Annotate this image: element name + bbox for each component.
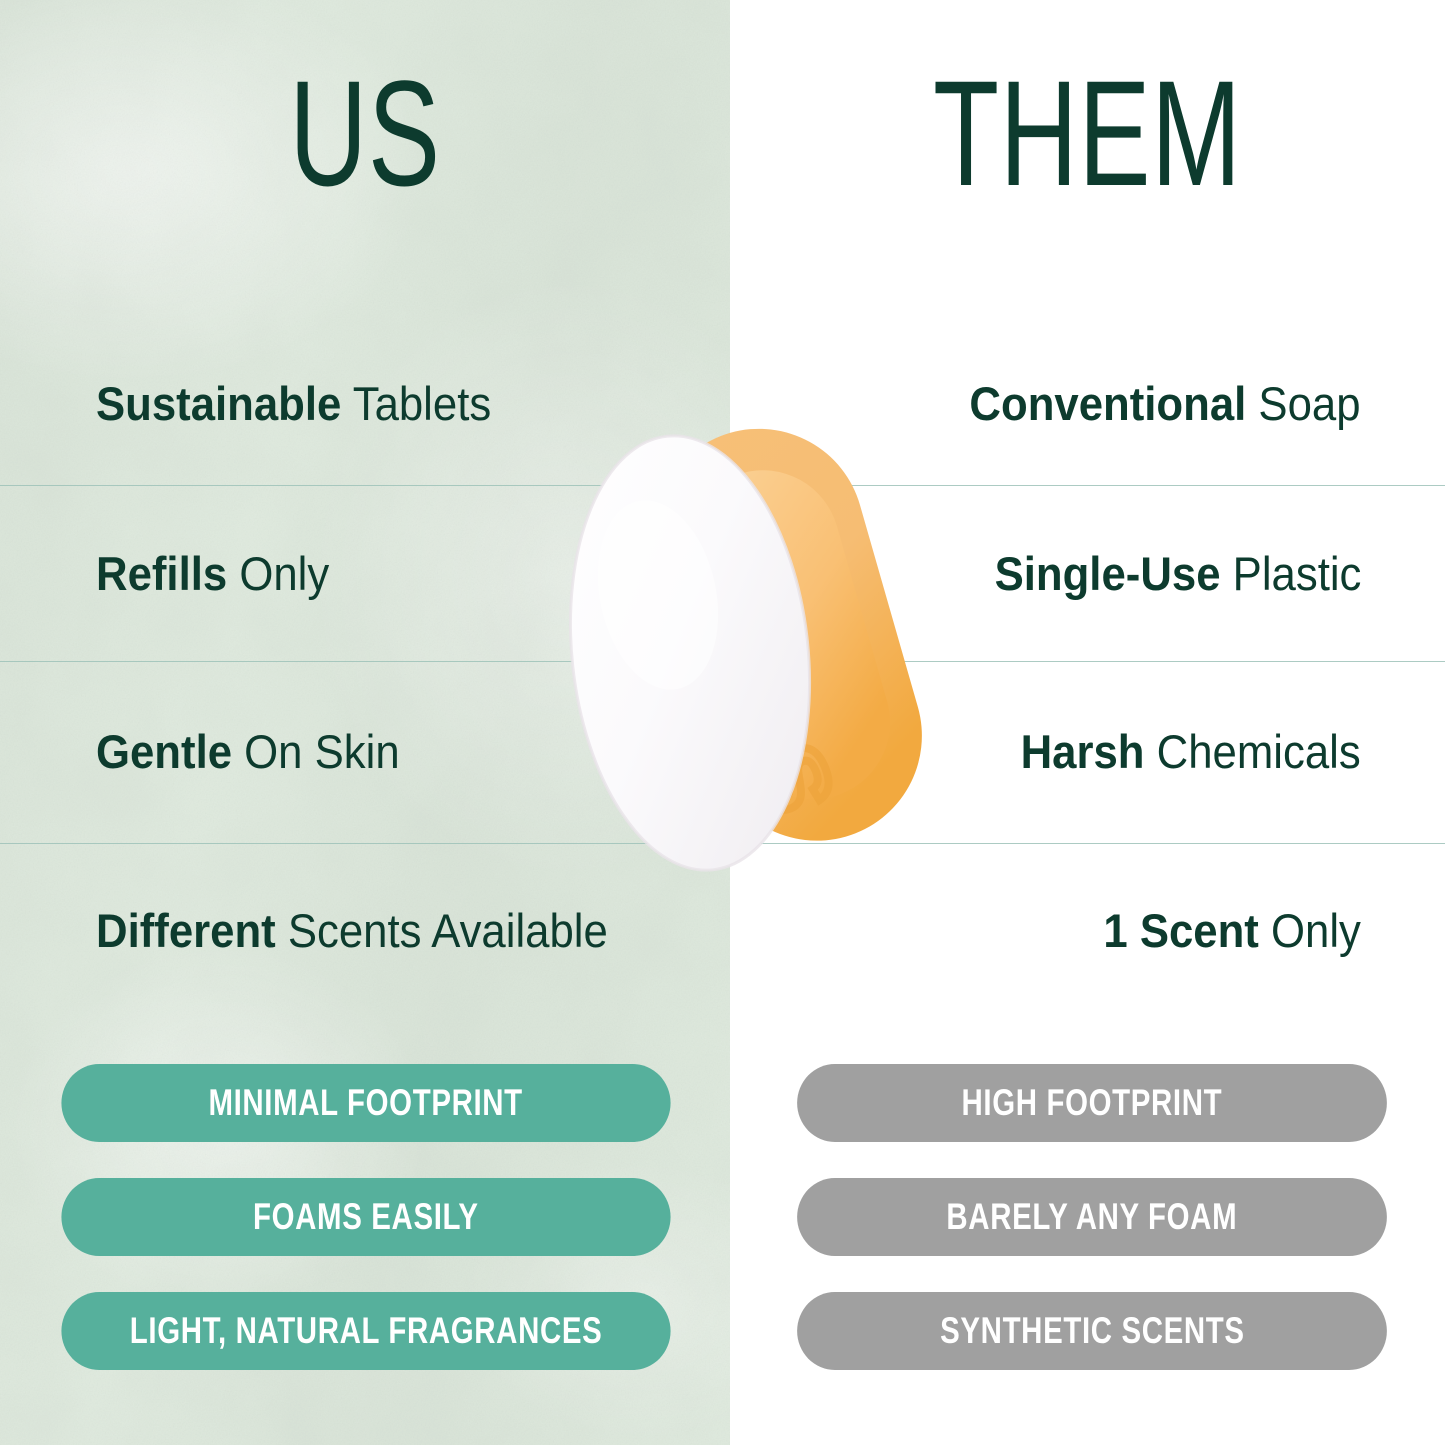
page-title-us: US (102, 58, 628, 208)
badge-us-1[interactable]: FOAMS EASILY (61, 1178, 670, 1256)
row-divider (0, 661, 1445, 662)
feature-us-2-regular: On Skin (244, 725, 399, 778)
comparison-infographic: US THEM Sustainable Tablets Conventional… (0, 0, 1445, 1445)
feature-them-2-regular: Chemicals (1157, 725, 1361, 778)
feature-them-0-bold: Conventional (970, 377, 1247, 430)
feature-them-1: Single-Use Plastic (994, 548, 1361, 600)
badge-them-1[interactable]: BARELY ANY FOAM (797, 1178, 1387, 1256)
badge-us-1-label: FOAMS EASILY (253, 1196, 479, 1238)
feature-them-3-bold: 1 Scent (1103, 904, 1258, 957)
badge-them-0[interactable]: HIGH FOOTPRINT (797, 1064, 1387, 1142)
page-title-them: THEM (830, 58, 1345, 208)
feature-them-0-regular: Soap (1259, 377, 1361, 430)
feature-them-2: Harsh Chemicals (1021, 726, 1361, 778)
badge-them-0-label: HIGH FOOTPRINT (962, 1082, 1223, 1124)
badge-us-2[interactable]: LIGHT, NATURAL FRAGRANCES (61, 1292, 670, 1370)
row-divider (0, 843, 1445, 844)
feature-us-3: Different Scents Available (96, 905, 608, 957)
feature-us-3-bold: Different (96, 904, 276, 957)
feature-us-1-regular: Only (239, 547, 329, 600)
badge-them-1-label: BARELY ANY FOAM (947, 1196, 1238, 1238)
badge-us-2-label: LIGHT, NATURAL FRAGRANCES (130, 1310, 603, 1352)
feature-us-0-regular: Tablets (353, 377, 491, 430)
feature-them-3-regular: Only (1271, 904, 1361, 957)
feature-us-1-bold: Refills (96, 547, 227, 600)
feature-us-1: Refills Only (96, 548, 329, 600)
badge-us-0-label: MINIMAL FOOTPRINT (209, 1082, 523, 1124)
feature-them-3: 1 Scent Only (1103, 905, 1361, 957)
feature-us-0-bold: Sustainable (96, 377, 341, 430)
feature-them-1-regular: Plastic (1232, 547, 1361, 600)
feature-us-2-bold: Gentle (96, 725, 232, 778)
badge-them-2[interactable]: SYNTHETIC SCENTS (797, 1292, 1387, 1370)
badge-them-2-label: SYNTHETIC SCENTS (940, 1310, 1245, 1352)
feature-them-2-bold: Harsh (1021, 725, 1145, 778)
badge-us-0[interactable]: MINIMAL FOOTPRINT (61, 1064, 670, 1142)
feature-us-0: Sustainable Tablets (96, 378, 491, 430)
feature-us-3-regular: Scents Available (288, 904, 608, 957)
row-divider (0, 485, 1445, 486)
feature-them-0: Conventional Soap (970, 378, 1361, 430)
feature-them-1-bold: Single-Use (994, 547, 1220, 600)
feature-us-2: Gentle On Skin (96, 726, 400, 778)
